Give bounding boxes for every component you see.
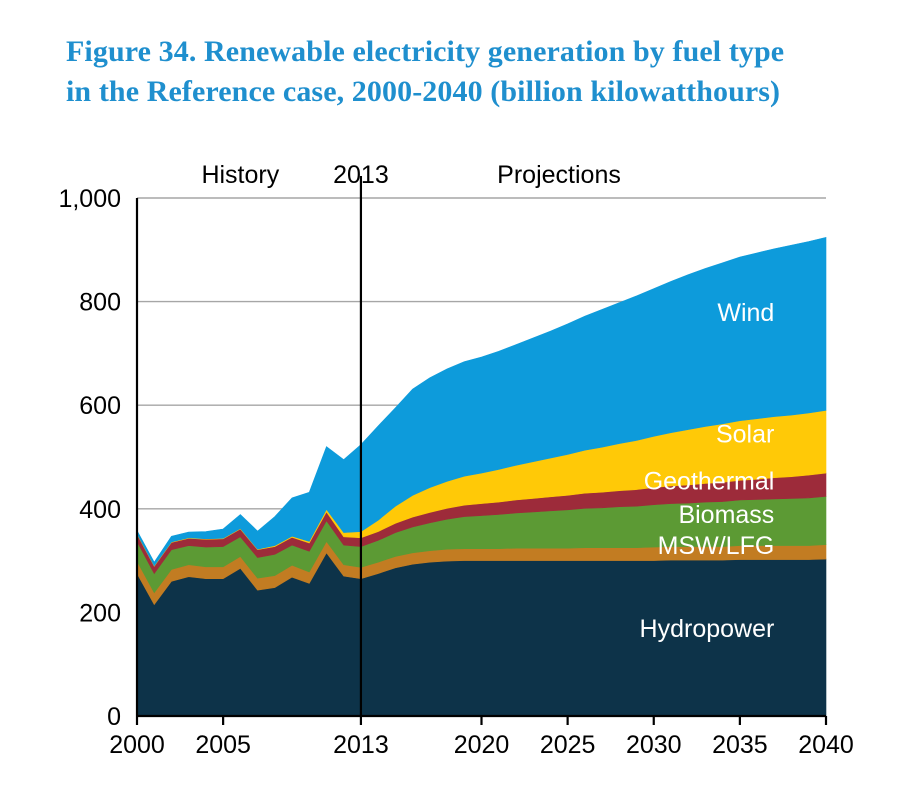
y-axis-tick-labels: 02004006008001,000 <box>58 185 121 731</box>
x-axis-tick-label: 2030 <box>626 731 682 759</box>
y-axis-tick-label: 400 <box>79 496 121 524</box>
series-label-wind: Wind <box>717 299 774 327</box>
period-annotations: History2013Projections <box>201 161 620 189</box>
divider-year-label: 2013 <box>333 161 389 189</box>
y-axis-tick-label: 1,000 <box>58 185 121 213</box>
series-label-solar: Solar <box>716 421 774 449</box>
series-label-hydropower: Hydropower <box>640 615 775 643</box>
y-axis-tick-label: 200 <box>79 599 121 627</box>
x-axis-tick-label: 2040 <box>798 731 854 759</box>
renewable-generation-area-chart: 02004006008001,000 200020052013202020252… <box>0 0 900 800</box>
x-axis-tick-label: 2005 <box>195 731 251 759</box>
y-axis-tick-label: 600 <box>79 392 121 420</box>
series-label-biomass: Biomass <box>678 501 774 529</box>
y-axis-tick-label: 0 <box>107 703 121 731</box>
x-axis-tick-label: 2025 <box>540 731 596 759</box>
history-label: History <box>201 161 279 189</box>
series-label-geothermal: Geothermal <box>644 467 775 495</box>
x-axis-tick-labels: 20002005201320202025203020352040 <box>109 731 854 759</box>
y-axis-tick-label: 800 <box>79 289 121 317</box>
series-label-msw-lfg: MSW/LFG <box>658 532 775 560</box>
projections-label: Projections <box>497 161 621 189</box>
x-axis-tick-label: 2020 <box>454 731 510 759</box>
x-axis-tick-label: 2013 <box>333 731 389 759</box>
x-axis-tick-label: 2035 <box>712 731 768 759</box>
x-axis-tick-label: 2000 <box>109 731 165 759</box>
